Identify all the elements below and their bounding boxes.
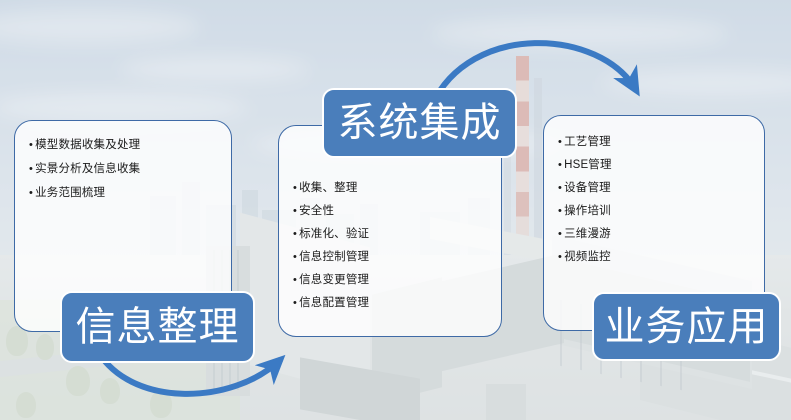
list-item: 三维漫游 bbox=[558, 228, 611, 241]
caption-label: 系统集成 bbox=[338, 103, 502, 143]
caption-tile-system-integration[interactable]: 系统集成 bbox=[322, 88, 517, 158]
list-item: 实景分析及信息收集 bbox=[29, 163, 140, 176]
list-item: 操作培训 bbox=[558, 205, 611, 218]
list-item: 工艺管理 bbox=[558, 136, 611, 149]
caption-tile-info-organize[interactable]: 信息整理 bbox=[60, 291, 255, 363]
list-item: 设备管理 bbox=[558, 182, 611, 195]
caption-label: 信息整理 bbox=[76, 307, 240, 347]
list-item: 信息控制管理 bbox=[293, 251, 369, 264]
list-item: 业务范围梳理 bbox=[29, 187, 105, 200]
slide-canvas: 模型数据收集及处理 实景分析及信息收集 业务范围梳理 收集、整理 安全性 标准化… bbox=[0, 0, 791, 420]
list-item: 安全性 bbox=[293, 205, 334, 218]
list-item: 信息变更管理 bbox=[293, 274, 369, 287]
list-item: 标准化、验证 bbox=[293, 228, 369, 241]
list-item: 收集、整理 bbox=[293, 182, 358, 195]
caption-tile-business-application[interactable]: 业务应用 bbox=[592, 292, 781, 361]
caption-label: 业务应用 bbox=[605, 307, 769, 347]
list-item: HSE管理 bbox=[558, 159, 612, 172]
list-item: 视频监控 bbox=[558, 251, 611, 264]
list-item: 模型数据收集及处理 bbox=[29, 139, 140, 152]
list-item: 信息配置管理 bbox=[293, 297, 369, 310]
